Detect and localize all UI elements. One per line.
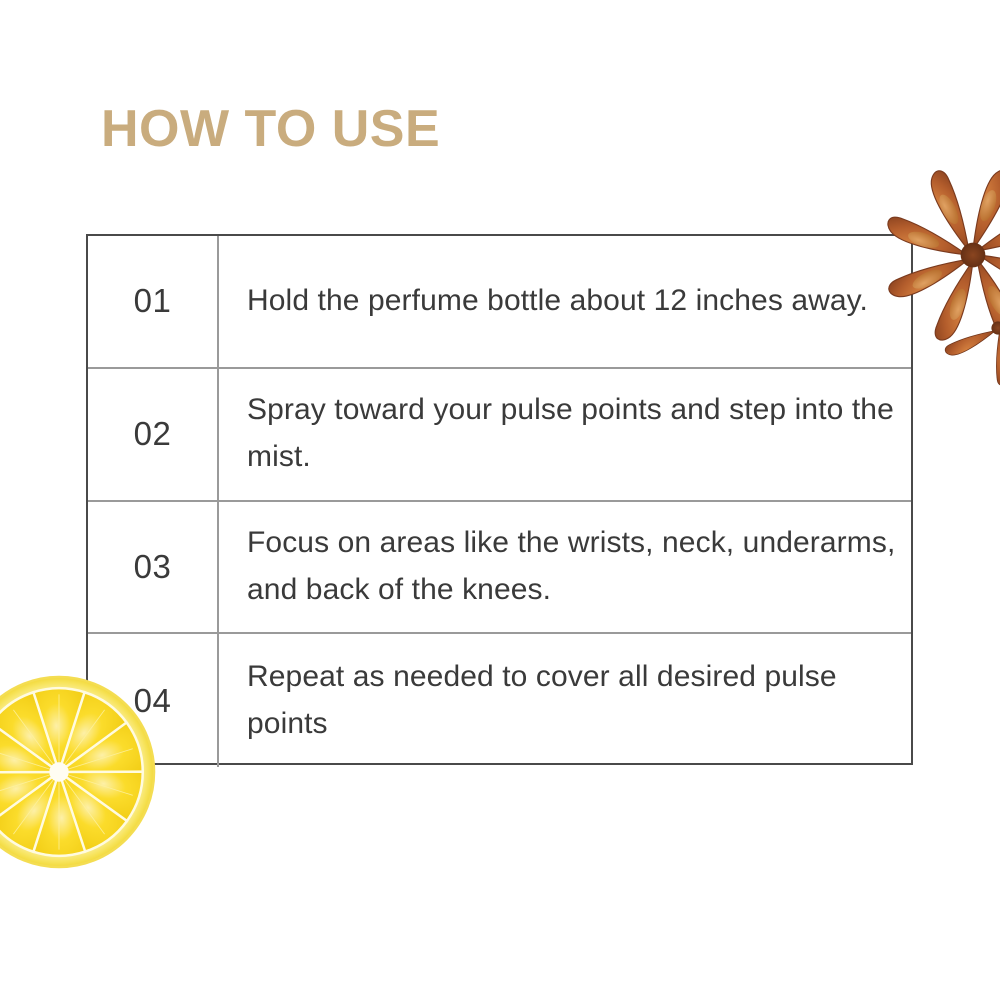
how-to-use-steps-table: 01 Hold the perfume bottle about 12 inch… [86, 234, 913, 765]
step-text: Repeat as needed to cover all desired pu… [247, 654, 897, 748]
step-text: Focus on areas like the wrists, neck, un… [247, 520, 897, 614]
table-row: 03 Focus on areas like the wrists, neck,… [88, 502, 911, 635]
table-row: 04 Repeat as needed to cover all desired… [88, 634, 911, 767]
page-title: HOW TO USE [101, 103, 440, 155]
step-number: 03 [134, 548, 172, 586]
step-text: Hold the perfume bottle about 12 inches … [247, 278, 868, 325]
step-text-cell: Repeat as needed to cover all desired pu… [219, 634, 911, 767]
step-number: 01 [134, 282, 172, 320]
table-row: 02 Spray toward your pulse points and st… [88, 369, 911, 502]
step-number: 04 [134, 682, 172, 720]
star-anise-secondary-icon [919, 249, 1000, 407]
step-number: 02 [134, 415, 172, 453]
step-number-cell: 02 [88, 369, 219, 500]
step-text: Spray toward your pulse points and step … [247, 387, 897, 481]
step-text-cell: Spray toward your pulse points and step … [219, 369, 911, 500]
table-row: 01 Hold the perfume bottle about 12 inch… [88, 236, 911, 369]
step-number-cell: 03 [88, 502, 219, 633]
poster-canvas: HOW TO USE [0, 0, 1000, 1000]
step-text-cell: Hold the perfume bottle about 12 inches … [219, 236, 911, 367]
step-number-cell: 04 [88, 634, 219, 767]
step-text-cell: Focus on areas like the wrists, neck, un… [219, 502, 911, 633]
step-number-cell: 01 [88, 236, 219, 367]
